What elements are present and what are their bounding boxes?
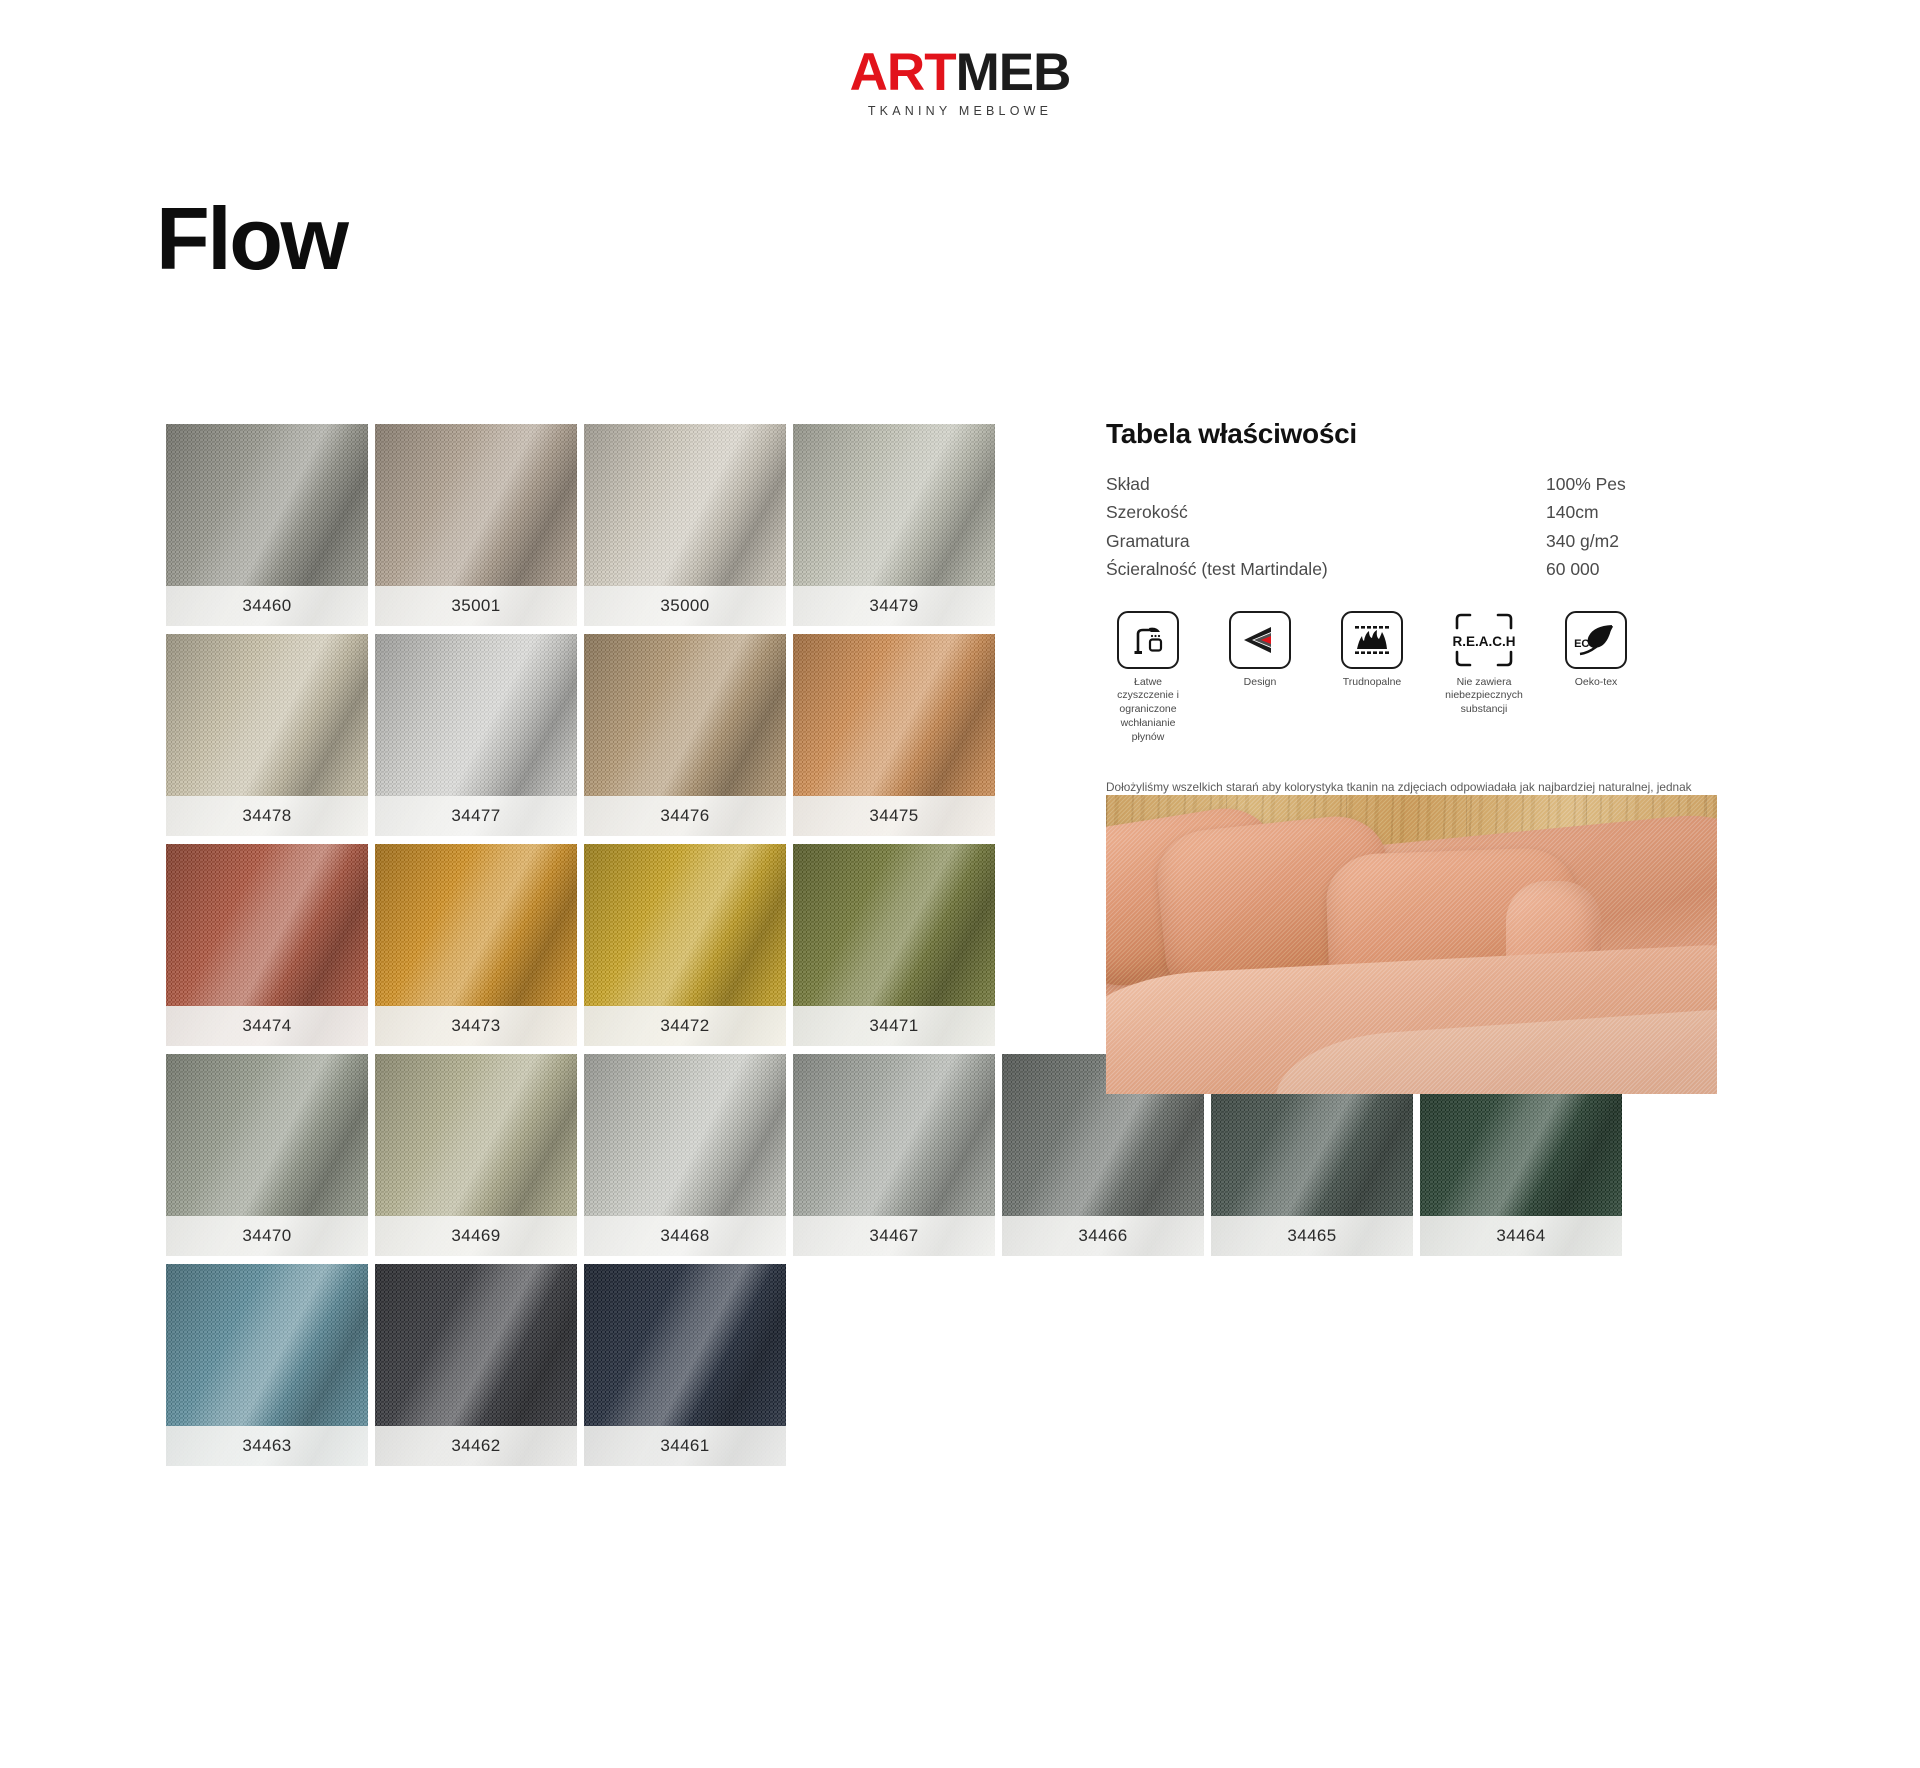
properties-panel: Tabela właściwości Skład 100% Pes Szerok… xyxy=(1106,418,1746,849)
logo-art-text: ART xyxy=(850,43,956,102)
easy-clean-icon xyxy=(1117,611,1179,669)
reach-icon: R.E.A.C.H xyxy=(1453,611,1515,669)
swatch-34471[interactable]: 34471 xyxy=(793,844,995,1046)
spec-label-szerokosc: Szerokość xyxy=(1106,500,1546,528)
brand-logo: ARTMEB TKANINY MEBLOWE xyxy=(0,46,1920,118)
swatch-34479[interactable]: 34479 xyxy=(793,424,995,626)
swatch-label: 34465 xyxy=(1211,1216,1413,1256)
swatch-34473[interactable]: 34473 xyxy=(375,844,577,1046)
swatch-34461[interactable]: 34461 xyxy=(584,1264,786,1466)
logo-meb-text: MEB xyxy=(956,43,1071,102)
swatch-34472[interactable]: 34472 xyxy=(584,844,786,1046)
sofa-photo xyxy=(1106,795,1717,1094)
logo-wordmark: ARTMEB xyxy=(850,46,1071,99)
swatch-34460[interactable]: 34460 xyxy=(166,424,368,626)
swatch-34476[interactable]: 34476 xyxy=(584,634,786,836)
table-row: Gramatura 340 g/m2 xyxy=(1106,529,1746,557)
swatch-35001[interactable]: 35001 xyxy=(375,424,577,626)
spec-label-gramatura: Gramatura xyxy=(1106,529,1546,557)
swatch-row-5: 34463 34462 34461 xyxy=(166,1264,1266,1466)
swatch-34469[interactable]: 34469 xyxy=(375,1054,577,1256)
swatch-grid: 34460 35001 35000 34479 34478 3447 xyxy=(166,424,1266,1474)
swatch-label: 34464 xyxy=(1420,1216,1622,1256)
swatch-label: 34460 xyxy=(166,586,368,626)
swatch-34474[interactable]: 34474 xyxy=(166,844,368,1046)
design-icon xyxy=(1229,611,1291,669)
swatch-label: 34462 xyxy=(375,1426,577,1466)
swatch-row-1: 34460 35001 35000 34479 xyxy=(166,424,1266,626)
swatch-label: 35001 xyxy=(375,586,577,626)
swatch-label: 34463 xyxy=(166,1426,368,1466)
swatch-label: 34466 xyxy=(1002,1216,1204,1256)
property-icon-reach: R.E.A.C.H Nie zawiera niebezpiecznych su… xyxy=(1442,611,1526,745)
swatch-34462[interactable]: 34462 xyxy=(375,1264,577,1466)
spec-label-scieralnosc: Ścieralność (test Martindale) xyxy=(1106,557,1546,585)
eco-leaf-icon: ECO xyxy=(1565,611,1627,669)
swatch-35000[interactable]: 35000 xyxy=(584,424,786,626)
swatch-label: 35000 xyxy=(584,586,786,626)
spec-label-sklad: Skład xyxy=(1106,472,1546,500)
flame-retardant-icon xyxy=(1341,611,1403,669)
property-icon-design: Design xyxy=(1218,611,1302,745)
property-icon-easy-clean: Łatwe czyszczenie i ograniczone wchłania… xyxy=(1106,611,1190,745)
spec-value-szerokosc: 140cm xyxy=(1546,500,1746,528)
svg-text:R.E.A.C.H: R.E.A.C.H xyxy=(1453,634,1515,649)
icon-caption: Nie zawiera niebezpiecznych substancji xyxy=(1442,676,1526,718)
swatch-label: 34471 xyxy=(793,1006,995,1046)
swatch-34467[interactable]: 34467 xyxy=(793,1054,995,1256)
svg-text:ECO: ECO xyxy=(1574,638,1598,650)
table-row: Szerokość 140cm xyxy=(1106,500,1746,528)
icon-caption: Trudnopalne xyxy=(1330,676,1414,690)
swatch-label: 34470 xyxy=(166,1216,368,1256)
swatch-label: 34479 xyxy=(793,586,995,626)
swatch-34475[interactable]: 34475 xyxy=(793,634,995,836)
icon-caption: Oeko-tex xyxy=(1554,676,1638,690)
properties-heading: Tabela właściwości xyxy=(1106,418,1746,450)
icon-caption: Design xyxy=(1218,676,1302,690)
swatch-34478[interactable]: 34478 xyxy=(166,634,368,836)
page-root: ARTMEB TKANINY MEBLOWE Flow 34460 35001 … xyxy=(0,0,1920,1768)
swatch-34477[interactable]: 34477 xyxy=(375,634,577,836)
swatch-label: 34477 xyxy=(375,796,577,836)
swatch-label: 34468 xyxy=(584,1216,786,1256)
swatch-34470[interactable]: 34470 xyxy=(166,1054,368,1256)
table-row: Skład 100% Pes xyxy=(1106,472,1746,500)
swatch-label: 34475 xyxy=(793,796,995,836)
spec-value-sklad: 100% Pes xyxy=(1546,472,1746,500)
spec-value-gramatura: 340 g/m2 xyxy=(1546,529,1746,557)
swatch-34468[interactable]: 34468 xyxy=(584,1054,786,1256)
swatch-label: 34467 xyxy=(793,1216,995,1256)
swatch-row-4: 34470 34469 34468 34467 34466 34465 xyxy=(166,1054,1266,1256)
icon-caption: Łatwe czyszczenie i ograniczone wchłania… xyxy=(1106,676,1190,745)
swatch-label: 34474 xyxy=(166,1006,368,1046)
property-icon-flame: Trudnopalne xyxy=(1330,611,1414,745)
swatch-label: 34461 xyxy=(584,1426,786,1466)
property-icons: Łatwe czyszczenie i ograniczone wchłania… xyxy=(1106,611,1746,745)
swatch-label: 34473 xyxy=(375,1006,577,1046)
swatch-label: 34469 xyxy=(375,1216,577,1256)
logo-tagline: TKANINY MEBLOWE xyxy=(0,104,1920,118)
swatch-label: 34472 xyxy=(584,1006,786,1046)
property-icon-oekotex: ECO Oeko-tex xyxy=(1554,611,1638,745)
properties-table: Skład 100% Pes Szerokość 140cm Gramatura… xyxy=(1106,472,1746,586)
spec-value-scieralnosc: 60 000 xyxy=(1546,557,1746,585)
table-row: Ścieralność (test Martindale) 60 000 xyxy=(1106,557,1746,585)
page-title: Flow xyxy=(156,195,346,283)
swatch-label: 34478 xyxy=(166,796,368,836)
swatch-row-3: 34474 34473 34472 34471 xyxy=(166,844,1266,1046)
swatch-label: 34476 xyxy=(584,796,786,836)
swatch-row-2: 34478 34477 34476 34475 xyxy=(166,634,1266,836)
swatch-34463[interactable]: 34463 xyxy=(166,1264,368,1466)
